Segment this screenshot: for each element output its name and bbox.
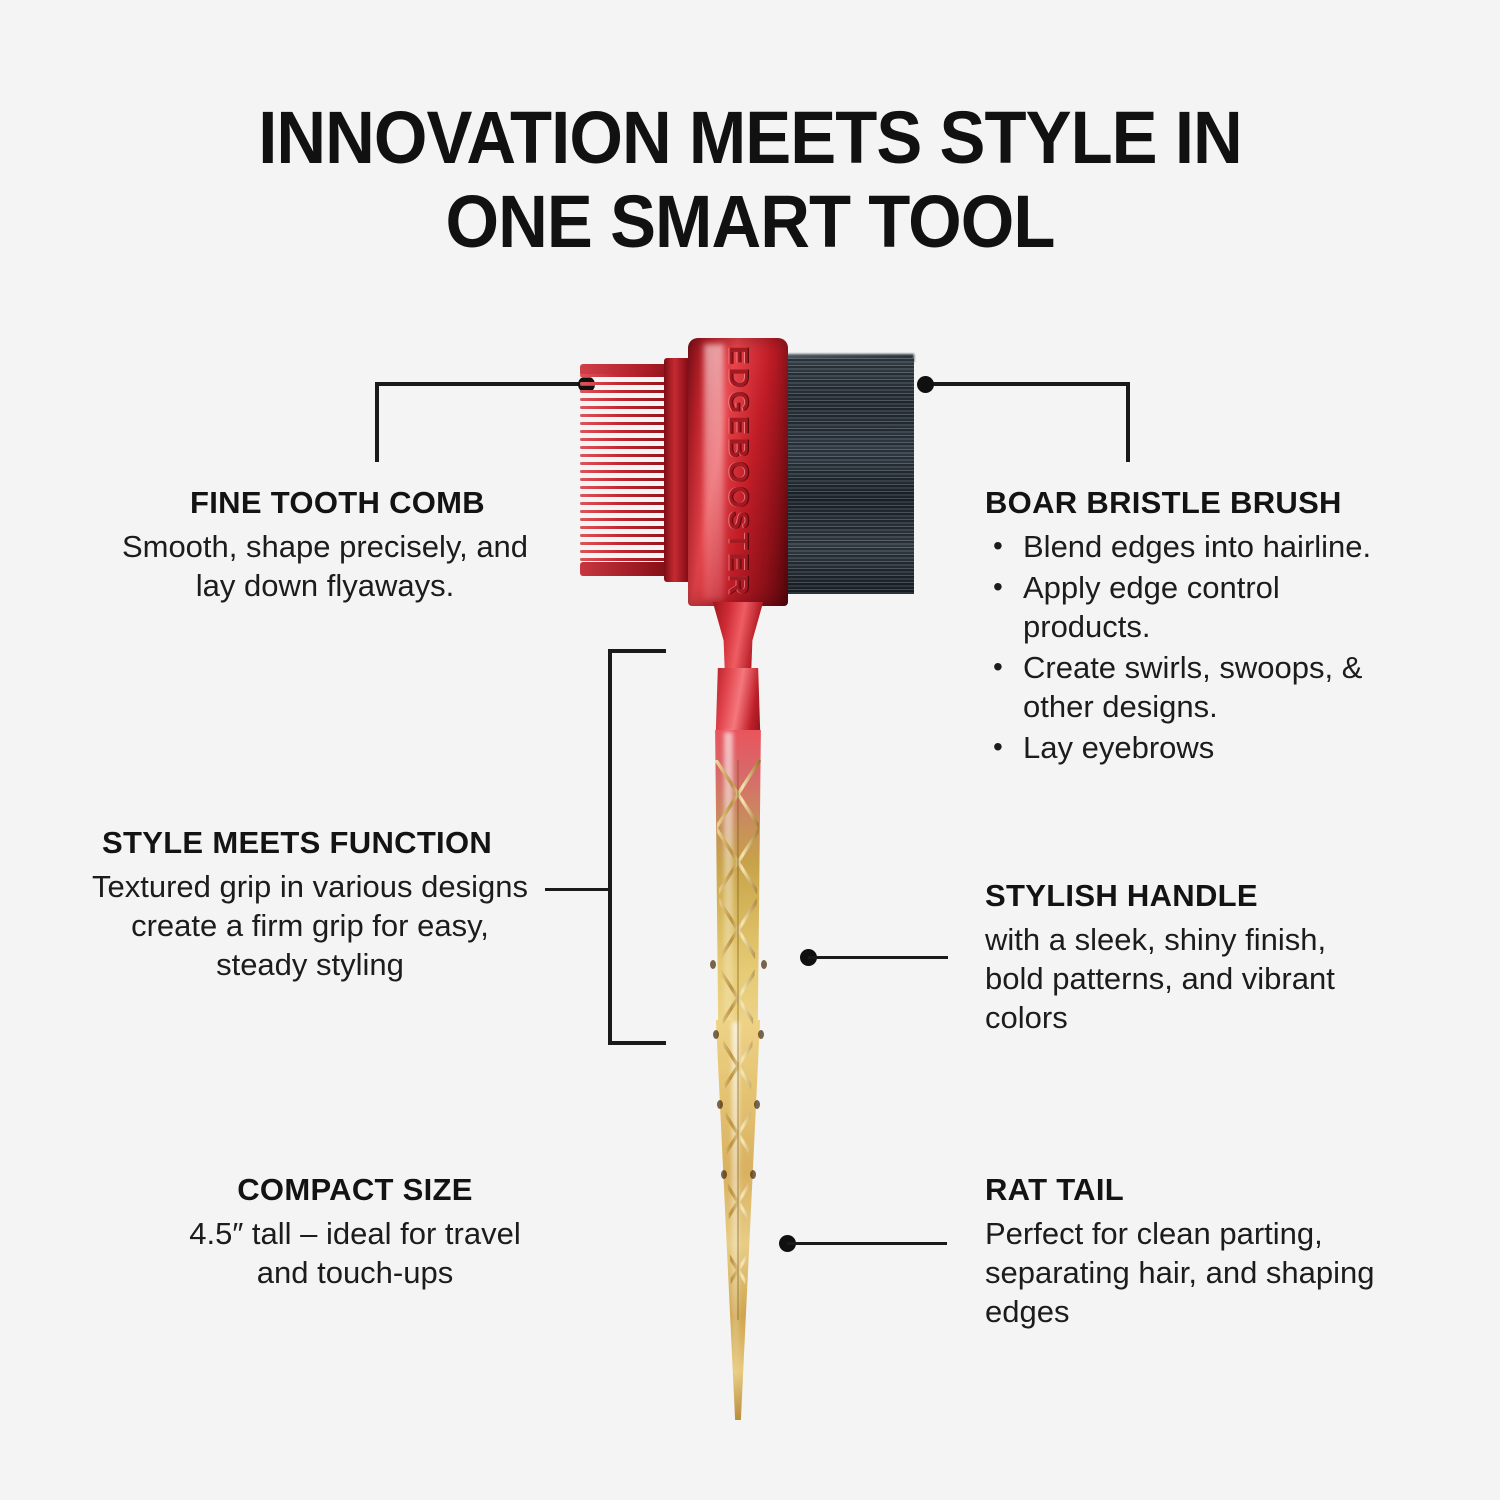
feature-fine-tooth-comb: FINE TOOTH COMB Smooth, shape precisely,… xyxy=(120,485,530,605)
product-head: EDGEBOOSTER xyxy=(560,330,960,610)
leader-line-comb-horizontal xyxy=(375,382,587,386)
feature-bullet-item: Create swirls, swoops, & other designs. xyxy=(985,648,1415,726)
handle-pit xyxy=(754,1100,760,1109)
page-title: INNOVATION MEETS STYLE IN ONE SMART TOOL xyxy=(53,96,1448,264)
feature-heading-fine-tooth-comb: FINE TOOTH COMB xyxy=(120,485,530,521)
feature-bullet-item: Blend edges into hairline. xyxy=(985,527,1415,566)
feature-heading-style-meets-function: STYLE MEETS FUNCTION xyxy=(90,825,530,861)
product-neck xyxy=(708,602,768,672)
handle-pit xyxy=(761,960,767,969)
boar-bristles xyxy=(786,358,914,594)
feature-heading-boar-bristle-brush: BOAR BRISTLE BRUSH xyxy=(985,485,1415,521)
handle-pit xyxy=(710,960,716,969)
brand-text: EDGEBOOSTER xyxy=(723,346,754,598)
feature-body-rat-tail: Perfect for clean parting, separating ha… xyxy=(985,1214,1385,1331)
handle-pit xyxy=(750,1170,756,1179)
handle-pit xyxy=(721,1170,727,1179)
feature-bullet-item: Apply edge control products. xyxy=(985,568,1415,646)
feature-compact-size: COMPACT SIZE 4.5″ tall – ideal for trave… xyxy=(185,1172,525,1292)
feature-heading-compact-size: COMPACT SIZE xyxy=(185,1172,525,1208)
product-image: EDGEBOOSTER xyxy=(560,330,960,1420)
title-line-1: INNOVATION MEETS STYLE IN xyxy=(258,96,1242,179)
handle-pit xyxy=(713,1030,719,1039)
feature-body-compact-size: 4.5″ tall – ideal for travel and touch-u… xyxy=(185,1214,525,1292)
leader-line-brush-vertical xyxy=(1126,382,1130,462)
feature-heading-stylish-handle: STYLISH HANDLE xyxy=(985,878,1385,914)
feature-bullet-item: Lay eyebrows xyxy=(985,728,1415,767)
feature-heading-rat-tail: RAT TAIL xyxy=(985,1172,1385,1208)
leader-line-comb-vertical xyxy=(375,382,379,462)
feature-body-stylish-handle: with a sleek, shiny finish, bold pattern… xyxy=(985,920,1385,1037)
feature-boar-bristle-brush: BOAR BRISTLE BRUSH Blend edges into hair… xyxy=(985,485,1415,769)
feature-rat-tail: RAT TAIL Perfect for clean parting, sepa… xyxy=(985,1172,1385,1331)
feature-stylish-handle: STYLISH HANDLE with a sleek, shiny finis… xyxy=(985,878,1385,1037)
feature-style-meets-function: STYLE MEETS FUNCTION Textured grip in va… xyxy=(90,825,530,984)
product-collar xyxy=(710,668,766,738)
infographic-canvas: INNOVATION MEETS STYLE IN ONE SMART TOOL xyxy=(0,0,1500,1500)
brand-plate: EDGEBOOSTER xyxy=(688,338,788,606)
handle-pit xyxy=(758,1030,764,1039)
feature-bullets-boar-bristle-brush: Blend edges into hairline.Apply edge con… xyxy=(985,527,1415,767)
feature-body-style-meets-function: Textured grip in various designs create … xyxy=(90,867,530,984)
feature-body-fine-tooth-comb: Smooth, shape precisely, and lay down fl… xyxy=(120,527,530,605)
handle-pit xyxy=(717,1100,723,1109)
title-line-2: ONE SMART TOOL xyxy=(53,180,1448,264)
product-body-bar: EDGEBOOSTER xyxy=(688,338,788,606)
